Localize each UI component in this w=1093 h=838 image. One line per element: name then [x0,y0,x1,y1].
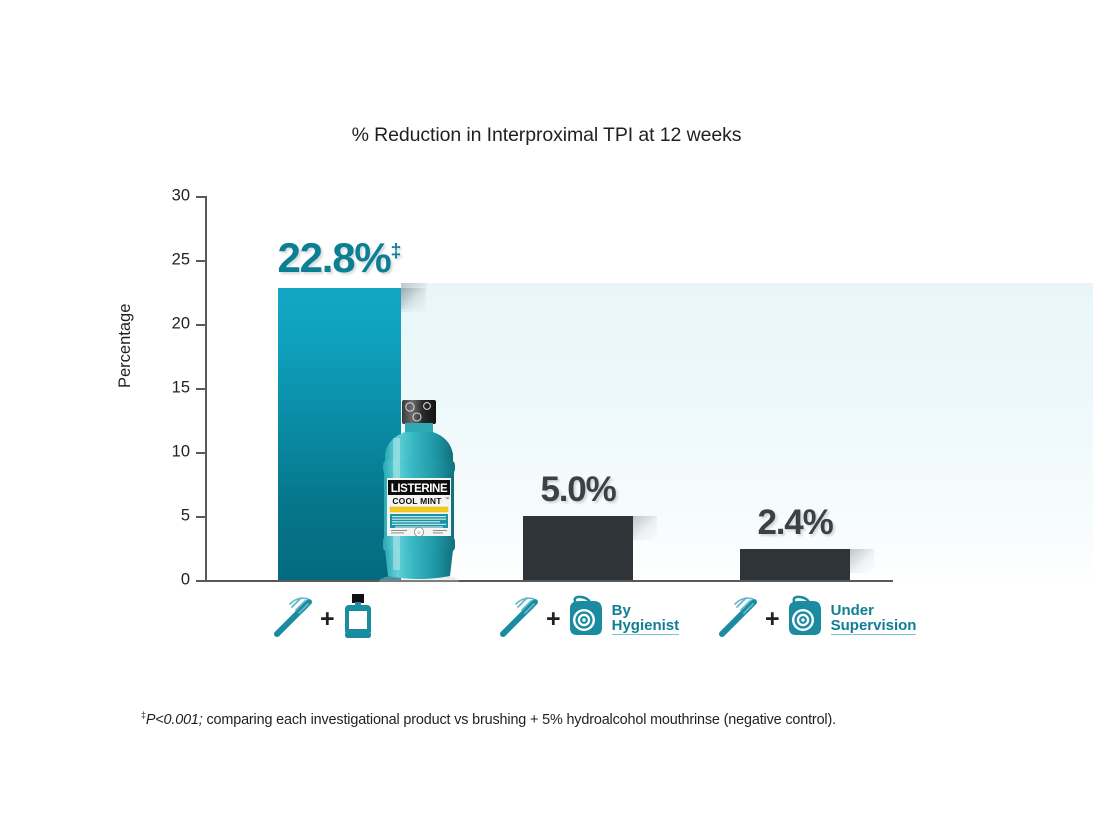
y-tick-label-5: 5 [181,507,190,526]
y-tick-label-25: 25 [172,251,190,270]
category-label-hygienist: + By Hygienist [497,588,679,650]
caption-line-2: Hygienist [612,617,680,634]
plus-sign: + [546,607,561,632]
floss-dispenser-icon [783,594,827,645]
bar-value-label-supervision: 2.4% [758,503,833,543]
toothbrush-icon [716,594,762,645]
svg-text:☺: ☺ [417,530,422,535]
significance-marker: ‡ [391,240,402,262]
category-caption-supervision: Under Supervision [831,603,917,636]
svg-text:™: ™ [445,496,449,501]
footnote-stat: P<0.001; [146,712,203,728]
y-tick-label-20: 20 [172,315,190,334]
plot-area: 0 5 10 15 20 25 30 22.8%‡ [205,196,893,580]
y-axis-title: Percentage [116,304,135,388]
floss-dispenser-icon [564,594,608,645]
caption-line-2: Supervision [831,617,917,634]
mouthwash-bottle-icon [338,593,378,646]
y-axis-line [205,196,207,580]
bar-floss-supervision[interactable]: 2.4% [740,549,850,580]
plot-background-panel [401,283,1093,580]
category-label-listerine: + [271,588,378,650]
toothbrush-icon [497,594,543,645]
x-axis-line [205,580,893,582]
y-tick-label-0: 0 [181,571,190,590]
bar-value-label-hygienist: 5.0% [541,470,616,510]
footnote: ‡P<0.001; comparing each investigational… [141,710,836,728]
listerine-bottle-image: LISTERINE COOL MINT ™ ☺ [371,398,467,588]
svg-text:COOL MINT: COOL MINT [392,496,442,506]
category-label-supervision: + Under Supervision [716,588,916,650]
plus-sign: + [320,607,335,632]
footnote-text: comparing each investigational product v… [203,712,836,728]
toothbrush-icon [271,594,317,645]
bar-floss-hygienist[interactable]: 5.0% [523,516,633,580]
svg-text:LISTERINE: LISTERINE [391,483,448,495]
chart-figure: % Reduction in Interproximal TPI at 12 w… [0,0,1093,838]
chart-title: % Reduction in Interproximal TPI at 12 w… [0,124,1093,147]
y-tick-label-10: 10 [172,443,190,462]
plot-background-shadow [401,283,427,309]
y-tick-label-15: 15 [172,379,190,398]
plus-sign: + [765,607,780,632]
bar-value-label-listerine: 22.8%‡ [277,234,401,282]
y-tick-label-30: 30 [172,187,190,206]
category-caption-hygienist: By Hygienist [612,603,680,636]
